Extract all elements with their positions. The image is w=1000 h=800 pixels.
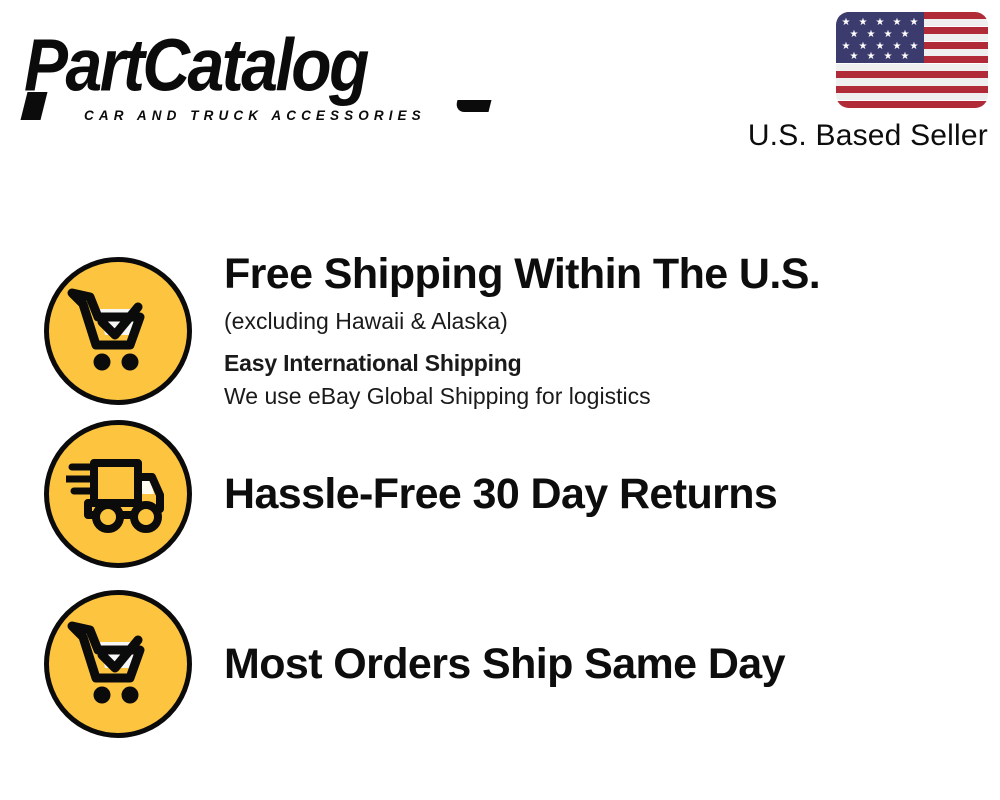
feature-title: Hassle-Free 30 Day Returns [224,469,980,519]
brand-wordmark: PartCatalog [24,22,367,107]
shopping-cart-check-icon [44,257,192,405]
flag-canton: ★ ★ ★ ★ ★ ★ ★ ★ ★ ★ ★ ★ ★ ★ ★ ★ ★ ★ [836,12,924,63]
logo-accent-right [455,100,492,112]
brand-tagline: CAR AND TRUCK ACCESSORIES [84,108,426,123]
page-header: PartCatalog CAR AND TRUCK ACCESSORIES ★ … [0,0,1000,175]
feature-title: Most Orders Ship Same Day [224,639,980,689]
feature-secondary-title: Easy International Shipping [224,347,980,379]
us-based-seller-label: U.S. Based Seller [738,119,988,153]
feature-row: Most Orders Ship Same Day [0,590,1000,738]
feature-text-block: Free Shipping Within The U.S. (excluding… [224,249,1000,412]
feature-row: Hassle-Free 30 Day Returns [0,420,1000,568]
shopping-cart-check-icon [44,590,192,738]
feature-text-block: Most Orders Ship Same Day [224,639,1000,689]
us-based-seller-badge: ★ ★ ★ ★ ★ ★ ★ ★ ★ ★ ★ ★ ★ ★ ★ ★ ★ ★ U.S.… [738,12,988,153]
feature-title: Free Shipping Within The U.S. [224,249,980,299]
feature-text-block: Hassle-Free 30 Day Returns [224,469,1000,519]
delivery-truck-icon [44,420,192,568]
brand-logo[interactable]: PartCatalog CAR AND TRUCK ACCESSORIES [24,22,494,117]
us-flag-icon: ★ ★ ★ ★ ★ ★ ★ ★ ★ ★ ★ ★ ★ ★ ★ ★ ★ ★ [836,12,988,108]
feature-row: Free Shipping Within The U.S. (excluding… [0,249,1000,412]
feature-subtitle: (excluding Hawaii & Alaska) [224,305,980,337]
feature-secondary-subtitle: We use eBay Global Shipping for logistic… [224,380,980,412]
